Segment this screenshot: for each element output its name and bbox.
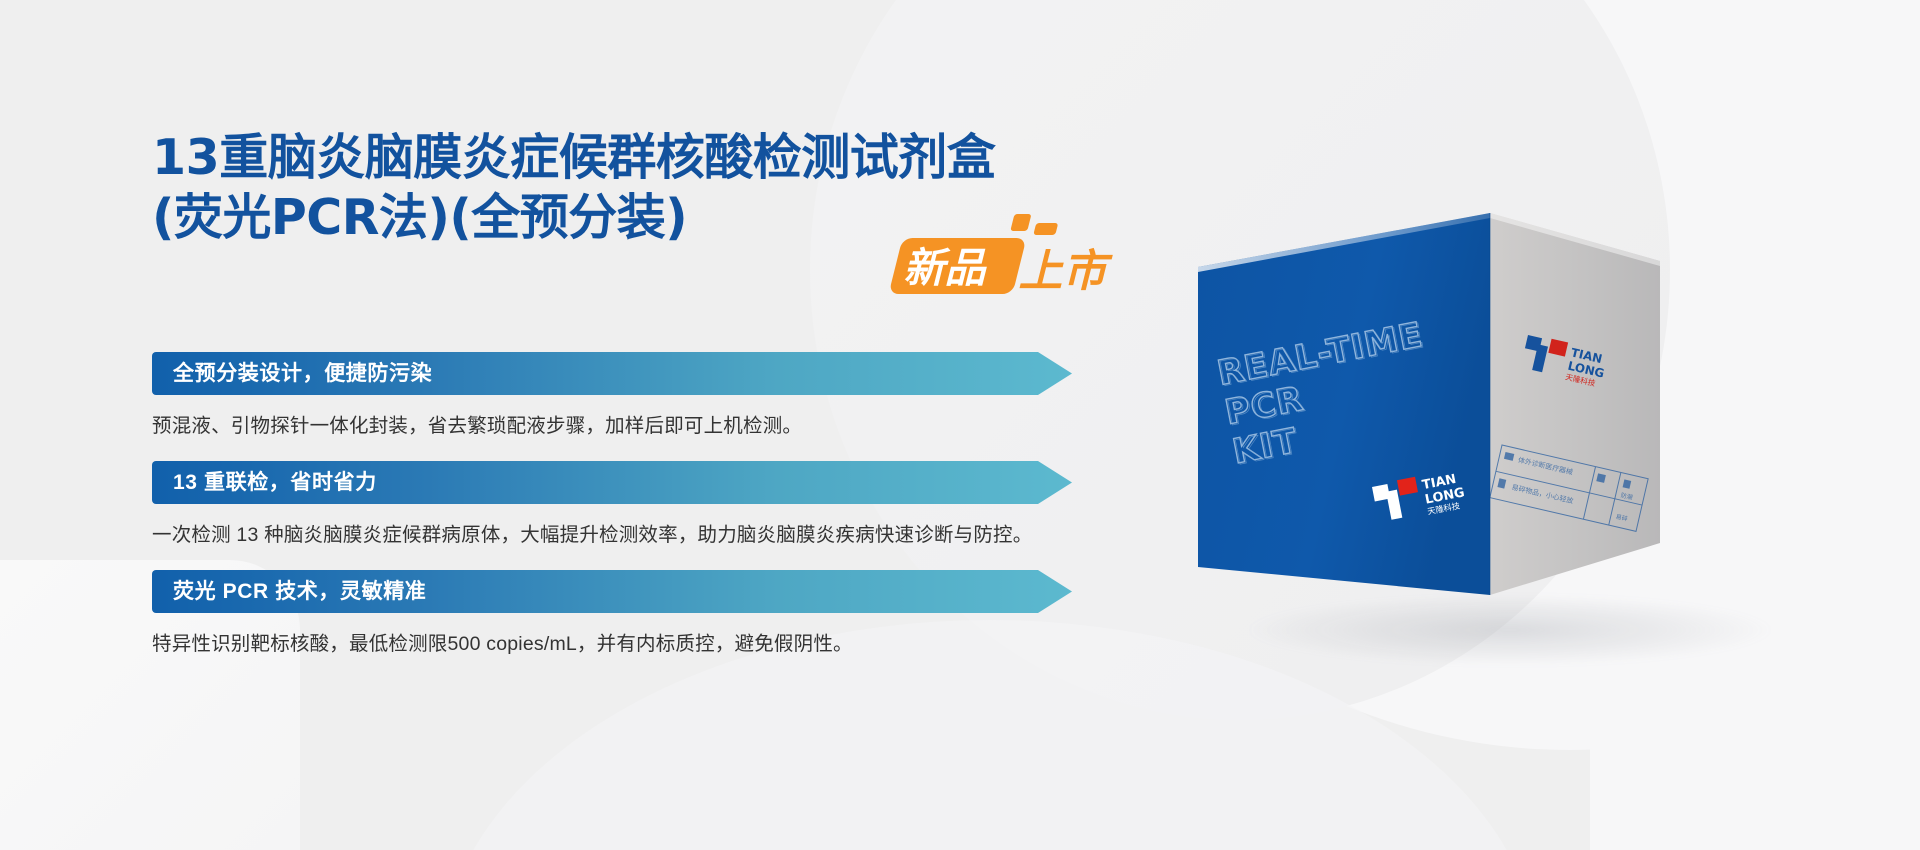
feature-heading-bar-2: 13 重联检，省时省力: [152, 461, 1072, 504]
title-line-1: 13重脑炎脑膜炎症候群核酸检测试剂盒: [152, 128, 995, 188]
new-product-badge: 新品 上市: [887, 212, 1137, 310]
feature-item-1: 全预分装设计，便捷防污染 预混液、引物探针一体化封装，省去繁琐配液步骤，加样后即…: [152, 352, 1112, 443]
product-box-image: TIAN LONG 天隆科技 TIAN LONG 天隆科技: [1190, 195, 1810, 715]
feature-item-3: 荧光 PCR 技术，灵敏精准 特异性识别靶标核酸，最低检测限500 copies…: [152, 570, 1112, 661]
feature-heading-bar-1: 全预分装设计，便捷防污染: [152, 352, 1072, 395]
feature-description-1: 预混液、引物探针一体化封装，省去繁琐配液步骤，加样后即可上机检测。: [152, 410, 1057, 443]
badge-text-front: 新品: [901, 244, 995, 292]
feature-description-2: 一次检测 13 种脑炎脑膜炎症候群病原体，大幅提升检测效率，助力脑炎脑膜炎疾病快…: [152, 519, 1057, 552]
feature-heading-3: 荧光 PCR 技术，灵敏精准: [152, 570, 1072, 613]
feature-list: 全预分装设计，便捷防污染 预混液、引物探针一体化封装，省去繁琐配液步骤，加样后即…: [152, 352, 1112, 679]
content-column: 13重脑炎脑膜炎症候群核酸检测试剂盒 (荧光PCR法)(全预分装): [152, 0, 1162, 850]
feature-heading-bar-3: 荧光 PCR 技术，灵敏精准: [152, 570, 1072, 613]
page-title: 13重脑炎脑膜炎症候群核酸检测试剂盒 (荧光PCR法)(全预分装): [152, 128, 995, 248]
box-side-face: [1490, 213, 1660, 595]
feature-heading-1: 全预分装设计，便捷防污染: [152, 352, 1072, 395]
product-promo-banner: 13重脑炎脑膜炎症候群核酸检测试剂盒 (荧光PCR法)(全预分装): [0, 0, 1920, 850]
feature-description-3: 特异性识别靶标核酸，最低检测限500 copies/mL，并有内标质控，避免假阴…: [152, 628, 1057, 661]
product-box-shadow: [1250, 595, 1770, 665]
title-line-2: (荧光PCR法)(全预分装): [152, 188, 995, 248]
badge-text-back: 上市: [1016, 246, 1117, 297]
feature-heading-2: 13 重联检，省时省力: [152, 461, 1072, 504]
feature-item-2: 13 重联检，省时省力 一次检测 13 种脑炎脑膜炎症候群病原体，大幅提升检测效…: [152, 461, 1112, 552]
